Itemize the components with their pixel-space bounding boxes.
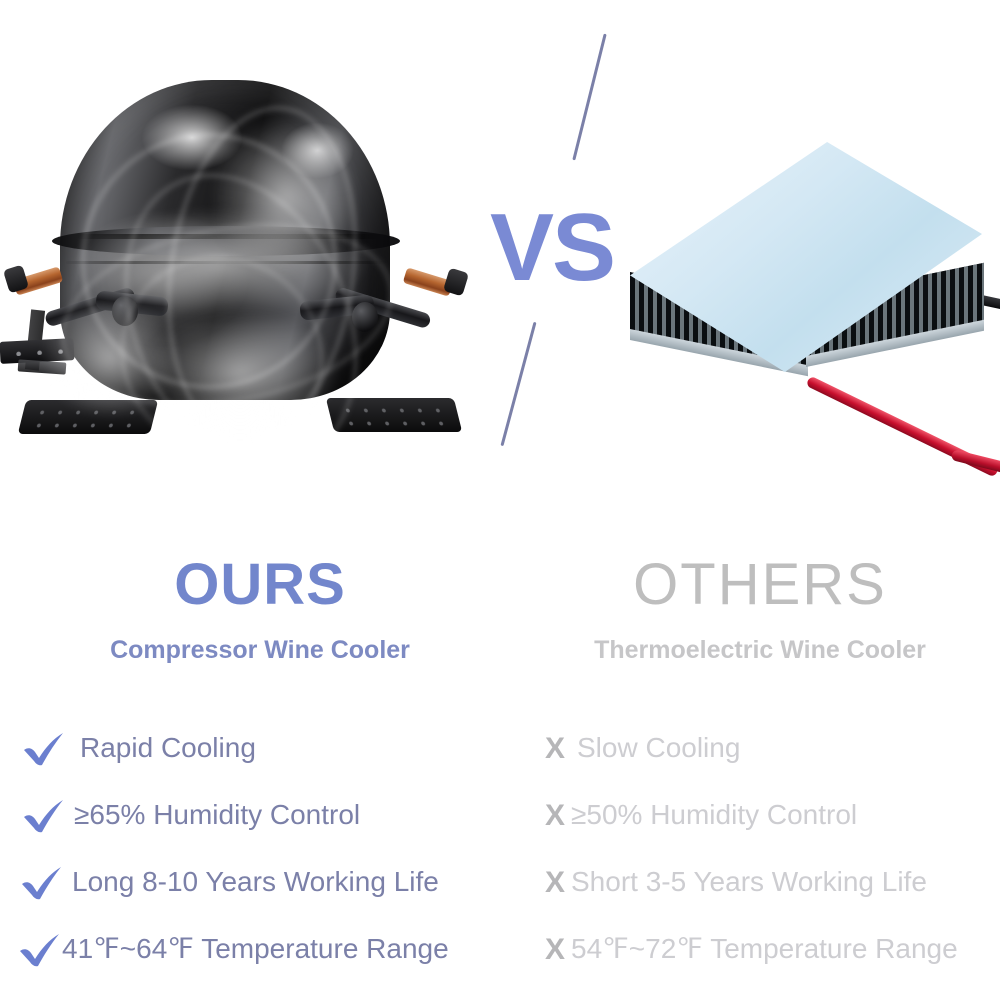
vs-label: VS	[487, 200, 617, 296]
x-mark-icon: X	[545, 935, 571, 965]
x-mark-icon: X	[545, 868, 571, 898]
feature-text: Short 3-5 Years Working Life	[571, 867, 927, 898]
divider-line-bottom	[500, 322, 536, 446]
compressor-port-right	[352, 302, 378, 332]
ours-feature-list: Rapid Cooling ≥65% Humidity Control	[0, 715, 520, 983]
list-item: ≥65% Humidity Control	[0, 782, 520, 849]
list-item: Long 8-10 Years Working Life	[0, 849, 520, 916]
peltier-red-wire-tail	[951, 449, 1000, 481]
others-title: OTHERS	[520, 556, 1000, 614]
compressor-product-image	[0, 58, 470, 458]
comparison-infographic: VS OURS Compressor Wine Cooler Rapid Coo…	[0, 0, 1000, 1000]
bracket-holes	[8, 345, 66, 356]
feature-text: ≥65% Humidity Control	[72, 800, 360, 831]
checkmark-icon	[22, 798, 66, 834]
feature-text: Slow Cooling	[571, 733, 740, 764]
list-item: 41℉~64℉ Temperature Range	[0, 916, 520, 983]
compressor-shoulder	[52, 226, 400, 256]
checkmark-icon	[22, 731, 66, 767]
compressor-weld-seam-lower	[66, 261, 386, 264]
list-item: X Short 3-5 Years Working Life	[520, 849, 1000, 916]
foot-texture-right	[337, 404, 450, 426]
column-others: OTHERS Thermoelectric Wine Cooler X Slow…	[520, 520, 1000, 1000]
x-mark-icon: X	[545, 801, 571, 831]
compressor-port-left	[112, 296, 138, 326]
list-item: X Slow Cooling	[520, 715, 1000, 782]
feature-text: 54℉~72℉ Temperature Range	[571, 934, 958, 965]
others-subtitle: Thermoelectric Wine Cooler	[520, 638, 1000, 663]
feature-text: Long 8-10 Years Working Life	[70, 867, 439, 898]
product-hero-area: VS	[0, 0, 1000, 520]
x-mark-icon: X	[545, 734, 571, 764]
comparison-table: OURS Compressor Wine Cooler Rapid Coolin…	[0, 520, 1000, 1000]
column-ours: OURS Compressor Wine Cooler Rapid Coolin…	[0, 520, 520, 1000]
peltier-product-image	[622, 132, 1000, 477]
foot-texture-left	[29, 406, 146, 428]
divider-line-top	[572, 34, 606, 161]
feature-text: ≥50% Humidity Control	[571, 800, 857, 831]
checkmark-icon	[18, 932, 62, 968]
list-item: Rapid Cooling	[0, 715, 520, 782]
mounting-foot-right	[326, 398, 462, 432]
checkmark-icon	[20, 865, 64, 901]
others-feature-list: X Slow Cooling X ≥50% Humidity Control X…	[520, 715, 1000, 983]
feature-text: 41℉~64℉ Temperature Range	[62, 934, 449, 965]
ours-subtitle: Compressor Wine Cooler	[0, 638, 520, 663]
list-item: X 54℉~72℉ Temperature Range	[520, 916, 1000, 983]
mounting-foot-left	[18, 400, 158, 434]
ours-title: OURS	[0, 556, 520, 614]
list-item: X ≥50% Humidity Control	[520, 782, 1000, 849]
mounting-bracket-secondary	[18, 359, 67, 374]
compressor-weld-seam	[78, 234, 378, 239]
feature-text: Rapid Cooling	[72, 733, 256, 764]
